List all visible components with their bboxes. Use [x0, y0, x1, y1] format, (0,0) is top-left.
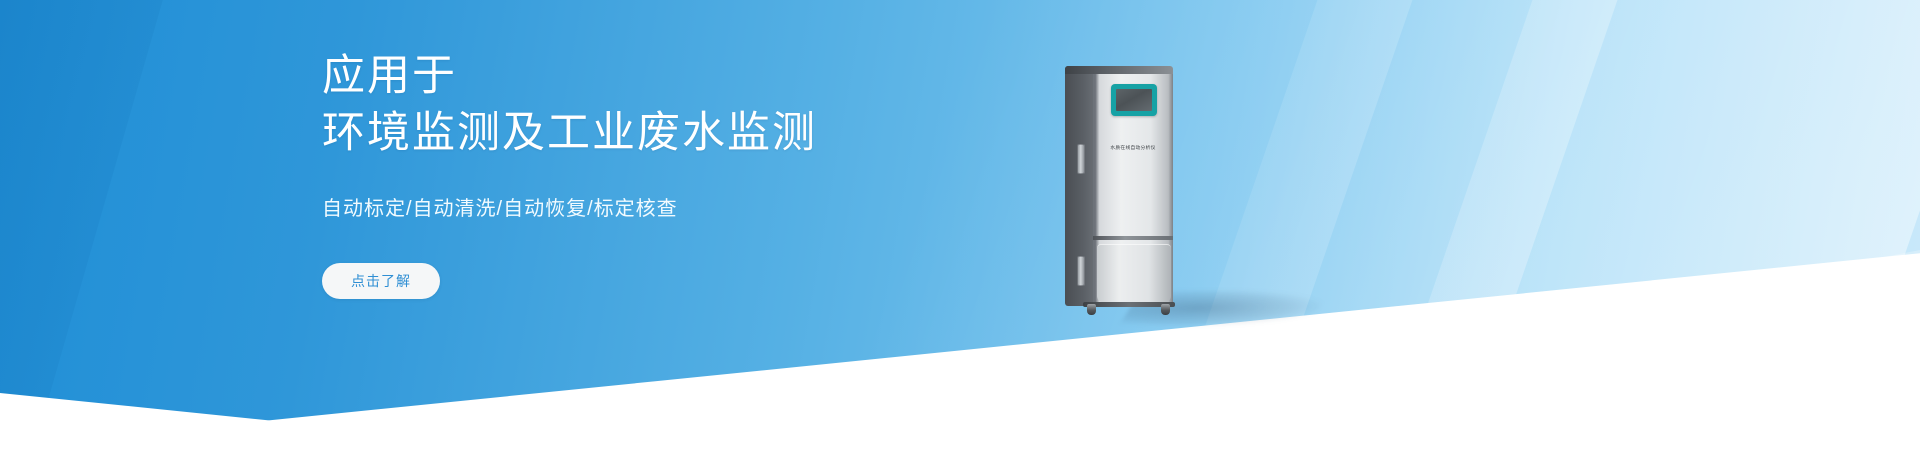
learn-more-button[interactable]: 点击了解	[322, 263, 440, 299]
product-image-analyzer: 水质在线自动分析仪	[1060, 58, 1310, 328]
headline-line-1: 应用于	[322, 48, 1082, 105]
analyzer-model-label: 水质在线自动分析仪	[1097, 144, 1169, 151]
analyzer-display-screen	[1111, 84, 1157, 116]
hero-banner: 应用于 环境监测及工业废水监测 自动标定/自动清洗/自动恢复/标定核查 点击了解…	[0, 0, 1920, 450]
hero-subtitle: 自动标定/自动清洗/自动恢复/标定核查	[322, 192, 1082, 221]
headline-line-2: 环境监测及工业废水监测	[322, 105, 1082, 162]
hero-copy-block: 应用于 环境监测及工业废水监测 自动标定/自动清洗/自动恢复/标定核查 点击了解	[322, 48, 1082, 299]
cabinet-caster-left	[1087, 304, 1096, 315]
cabinet-caster-right	[1161, 304, 1170, 315]
decorative-dark-band	[0, 0, 180, 450]
analyzer-display-glass	[1116, 89, 1152, 111]
cabinet-divider	[1093, 236, 1173, 240]
cabinet-lower-door	[1097, 244, 1171, 302]
